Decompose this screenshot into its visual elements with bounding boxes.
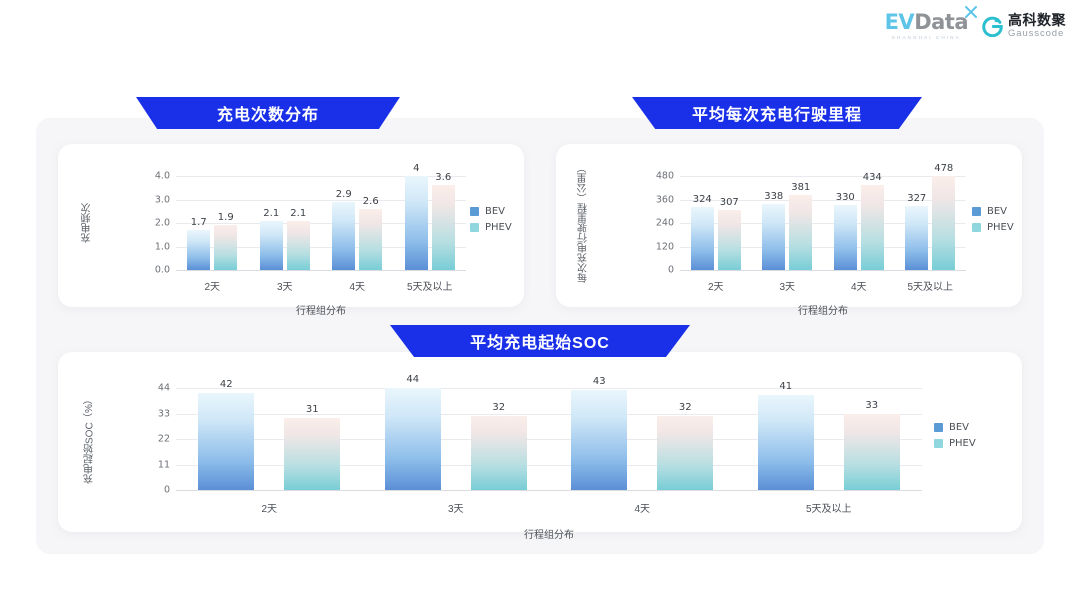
- legend-label-phev: PHEV: [949, 438, 976, 449]
- y-axis-tick: 2.0: [136, 218, 170, 229]
- gausscode-g-icon: [982, 16, 1003, 37]
- bar-phev-3天: [789, 195, 812, 270]
- bar-bev-3天: [385, 388, 441, 490]
- bar-value-label: 2.1: [278, 208, 319, 219]
- bar-bev-2天: [691, 207, 714, 270]
- legend-swatch-phev-icon: [972, 223, 981, 232]
- section-title-avg-mileage: 平均每次充电行驶里程: [632, 97, 922, 129]
- bar-bev-4天: [332, 202, 355, 270]
- chart-legend: BEVPHEV: [934, 422, 976, 449]
- evdata-logo: EVData SHANGHAI CHINA: [885, 12, 968, 40]
- bar-value-label: 31: [275, 404, 349, 415]
- chart-card-avg-mileage: 每次充电行驶里程（公里）48036024012003243072天3383813…: [556, 144, 1022, 307]
- legend-item-phev[interactable]: PHEV: [470, 222, 512, 233]
- x-axis-title: 行程组分布: [176, 526, 922, 541]
- legend-swatch-bev-icon: [972, 207, 981, 216]
- y-axis-label: 充电起始SOC（%）: [82, 388, 98, 490]
- bar-phev-2天: [718, 210, 741, 270]
- bar-chart-charge-count: 充电频次4.03.02.01.00.01.71.92天2.12.13天2.92.…: [58, 144, 524, 307]
- y-axis-tick: 44: [136, 383, 170, 394]
- legend-swatch-bev-icon: [934, 423, 943, 432]
- x-axis-tick: 4天: [582, 500, 702, 515]
- bar-value-label: 43: [562, 376, 636, 387]
- legend-item-phev[interactable]: PHEV: [972, 222, 1014, 233]
- gausscode-wordmark: 高科数聚 Gausscode: [1008, 13, 1066, 39]
- x-axis-tick: 5天及以上: [769, 500, 889, 515]
- y-axis-tick: 33: [136, 408, 170, 419]
- chart-card-charge-count: 充电频次4.03.02.01.00.01.71.92天2.12.13天2.92.…: [58, 144, 524, 307]
- bar-bev-2天: [198, 393, 254, 490]
- y-axis-tick: 0: [640, 265, 674, 276]
- legend-item-phev[interactable]: PHEV: [934, 438, 976, 449]
- section-title-avg-start-soc: 平均充电起始SOC: [390, 325, 690, 357]
- legend-label-bev: BEV: [485, 206, 505, 217]
- bar-value-label: 1.9: [205, 212, 246, 223]
- gausscode-logo: 高科数聚 Gausscode: [982, 13, 1066, 39]
- x-axis-tick: 3天: [396, 500, 516, 515]
- bar-bev-5天及以上: [405, 176, 428, 270]
- bar-value-label: 330: [825, 192, 866, 203]
- bar-bev-3天: [762, 204, 785, 270]
- legend-label-phev: PHEV: [987, 222, 1014, 233]
- y-axis-tick: 22: [136, 434, 170, 445]
- legend-label-phev: PHEV: [485, 222, 512, 233]
- bar-value-label: 2.6: [350, 196, 391, 207]
- y-axis-label: 每次充电行驶里程（公里）: [576, 176, 592, 270]
- x-axis-tick: 5天及以上: [370, 278, 490, 293]
- bar-phev-3天: [471, 416, 527, 490]
- bar-value-label: 41: [749, 381, 823, 392]
- chart-legend: BEVPHEV: [972, 206, 1014, 233]
- evdata-ev-text: EV: [885, 10, 915, 34]
- evdata-data-text: Data: [914, 10, 968, 34]
- legend-item-bev[interactable]: BEV: [972, 206, 1014, 217]
- y-axis-unit-text: （公里）: [576, 163, 591, 203]
- y-axis-unit-text: （%）: [82, 394, 97, 423]
- grid-line: [680, 176, 966, 177]
- bar-phev-5天及以上: [932, 176, 955, 270]
- legend-swatch-bev-icon: [470, 207, 479, 216]
- bar-value-label: 33: [835, 400, 909, 411]
- y-axis-tick: 0.0: [136, 265, 170, 276]
- legend-label-bev: BEV: [949, 422, 969, 433]
- y-axis-label-text: 充电起始SOC: [83, 423, 98, 485]
- bar-value-label: 32: [462, 402, 536, 413]
- bar-bev-4天: [834, 205, 857, 270]
- bar-bev-5天及以上: [905, 206, 928, 270]
- evdata-wordmark: EVData: [885, 12, 968, 33]
- bar-bev-5天及以上: [758, 395, 814, 490]
- bar-phev-5天及以上: [432, 185, 455, 270]
- gausscode-en-text: Gausscode: [1008, 29, 1066, 39]
- bar-phev-4天: [359, 209, 382, 270]
- chart-card-avg-start-soc: 充电起始SOC（%）44332211042312天44323天43324天413…: [58, 352, 1022, 532]
- bar-phev-4天: [861, 185, 884, 270]
- bar-value-label: 327: [896, 193, 937, 204]
- bar-phev-2天: [284, 418, 340, 490]
- logo-bar: EVData SHANGHAI CHINA 高科数聚 Gausscode: [885, 12, 1066, 40]
- x-axis-baseline: [176, 490, 922, 491]
- bar-value-label: 307: [709, 197, 750, 208]
- evdata-x-icon: [965, 6, 977, 21]
- legend-item-bev[interactable]: BEV: [470, 206, 512, 217]
- legend-swatch-phev-icon: [470, 223, 479, 232]
- bar-bev-4天: [571, 390, 627, 490]
- bar-value-label: 3.6: [423, 172, 464, 183]
- bar-bev-3天: [260, 221, 283, 270]
- bar-value-label: 42: [189, 379, 263, 390]
- x-axis-baseline: [680, 270, 966, 271]
- bar-phev-2天: [214, 225, 237, 270]
- y-axis-label: 充电频次: [80, 176, 95, 270]
- bar-chart-avg-mileage: 每次充电行驶里程（公里）48036024012003243072天3383813…: [556, 144, 1022, 307]
- y-axis-tick: 480: [640, 171, 674, 182]
- x-axis-title: 行程组分布: [680, 302, 966, 317]
- legend-label-bev: BEV: [987, 206, 1007, 217]
- x-axis-title: 行程组分布: [176, 302, 466, 317]
- bar-phev-5天及以上: [844, 414, 900, 491]
- chart-legend: BEVPHEV: [470, 206, 512, 233]
- bar-value-label: 32: [648, 402, 722, 413]
- bar-phev-4天: [657, 416, 713, 490]
- x-axis-tick: 2天: [209, 500, 329, 515]
- bar-bev-2天: [187, 230, 210, 270]
- x-axis-baseline: [176, 270, 466, 271]
- legend-swatch-phev-icon: [934, 439, 943, 448]
- y-axis-tick: 3.0: [136, 194, 170, 205]
- y-axis-tick: 11: [136, 459, 170, 470]
- bar-value-label: 434: [852, 172, 893, 183]
- bar-phev-3天: [287, 221, 310, 270]
- y-axis-tick: 0: [136, 485, 170, 496]
- section-title-charge-count: 充电次数分布: [136, 97, 400, 129]
- gausscode-cn-text: 高科数聚: [1008, 13, 1066, 27]
- y-axis-tick: 1.0: [136, 241, 170, 252]
- legend-item-bev[interactable]: BEV: [934, 422, 976, 433]
- bar-value-label: 381: [780, 182, 821, 193]
- y-axis-tick: 360: [640, 194, 674, 205]
- evdata-tagline: SHANGHAI CHINA: [892, 35, 961, 40]
- bar-value-label: 478: [923, 163, 964, 174]
- y-axis-tick: 240: [640, 218, 674, 229]
- bar-chart-avg-start-soc: 充电起始SOC（%）44332211042312天44323天43324天413…: [58, 352, 1022, 532]
- x-axis-tick: 5天及以上: [870, 278, 990, 293]
- bar-value-label: 44: [376, 374, 450, 385]
- y-axis-tick: 120: [640, 241, 674, 252]
- y-axis-label-text: 每次充电行驶里程: [577, 203, 592, 283]
- y-axis-tick: 4.0: [136, 171, 170, 182]
